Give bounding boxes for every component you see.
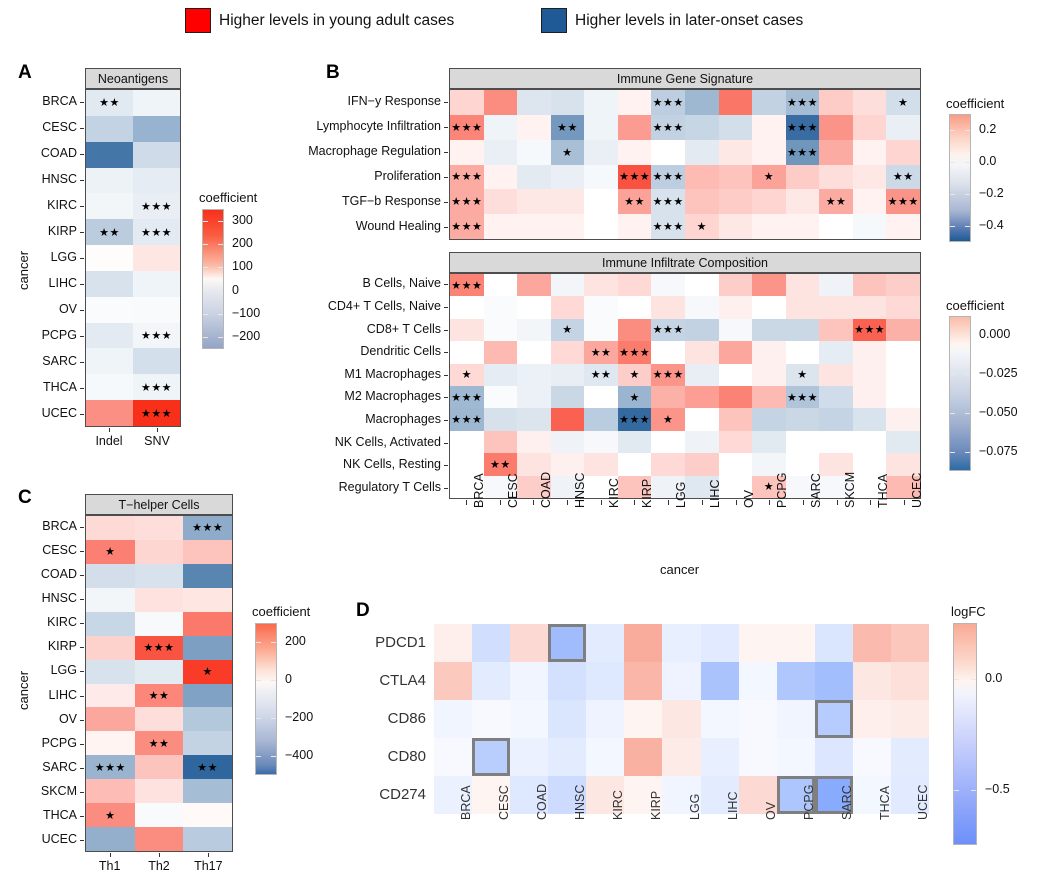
panel-d-cell[interactable] bbox=[548, 662, 586, 700]
panel-b-bottom-cell[interactable]: ★ bbox=[651, 408, 685, 430]
panel-b-top-cell[interactable] bbox=[584, 165, 618, 190]
panel-b-top-cell[interactable] bbox=[584, 90, 618, 115]
panel-b-bottom-cell[interactable] bbox=[618, 296, 652, 318]
panel-b-top-cell[interactable]: ★★★ bbox=[651, 165, 685, 190]
panel-b-top-cell[interactable] bbox=[685, 189, 719, 214]
panel-d-cell[interactable] bbox=[434, 738, 472, 776]
panel-c-cell[interactable] bbox=[86, 612, 135, 636]
panel-b-bottom-cell[interactable] bbox=[450, 319, 484, 341]
panel-b-top-cell[interactable]: ★★★ bbox=[651, 189, 685, 214]
panel-b-top-cell[interactable] bbox=[584, 214, 618, 239]
panel-b-bottom-cell[interactable]: ★ bbox=[618, 364, 652, 386]
panel-b-top-cell[interactable] bbox=[551, 214, 585, 239]
panel-b-bottom-cell[interactable] bbox=[618, 453, 652, 475]
panel-d-cell[interactable] bbox=[472, 738, 510, 776]
panel-b-bottom-cell[interactable] bbox=[551, 296, 585, 318]
panel-b-bottom-cell[interactable] bbox=[685, 274, 719, 296]
panel-d-cell[interactable] bbox=[891, 624, 929, 662]
panel-b-bottom-cell[interactable] bbox=[752, 274, 786, 296]
panel-d-cell[interactable] bbox=[434, 700, 472, 738]
panel-b-top-cell[interactable] bbox=[719, 214, 753, 239]
panel-b-bottom-cell[interactable] bbox=[551, 408, 585, 430]
panel-c-cell[interactable] bbox=[86, 779, 135, 803]
panel-b-top-cell[interactable] bbox=[584, 115, 618, 140]
panel-c-cell[interactable] bbox=[183, 827, 232, 851]
panel-b-bottom-cell[interactable] bbox=[584, 386, 618, 408]
panel-b-bottom-cell[interactable]: ★ bbox=[786, 364, 820, 386]
panel-d-cell[interactable] bbox=[853, 624, 891, 662]
panel-b-bottom-cell[interactable] bbox=[819, 364, 853, 386]
panel-b-bottom-cell[interactable] bbox=[886, 341, 920, 363]
panel-c-cell[interactable] bbox=[183, 540, 232, 564]
panel-a-cell[interactable] bbox=[86, 142, 133, 168]
panel-b-top-cell[interactable] bbox=[517, 165, 551, 190]
panel-a-cell[interactable] bbox=[133, 297, 180, 323]
panel-b-top-cell[interactable] bbox=[484, 90, 518, 115]
panel-b-bottom-cell[interactable] bbox=[719, 431, 753, 453]
panel-b-bottom-cell[interactable]: ★ bbox=[450, 364, 484, 386]
panel-b-top-cell[interactable]: ★★★ bbox=[886, 189, 920, 214]
panel-c-cell[interactable]: ★★★ bbox=[86, 755, 135, 779]
panel-b-top-cell[interactable] bbox=[786, 214, 820, 239]
panel-b-top-cell[interactable] bbox=[786, 165, 820, 190]
panel-b-bottom-cell[interactable] bbox=[786, 296, 820, 318]
panel-b-bottom-cell[interactable] bbox=[752, 408, 786, 430]
panel-b-bottom-cell[interactable] bbox=[651, 453, 685, 475]
panel-b-bottom-cell[interactable] bbox=[719, 274, 753, 296]
panel-b-bottom-cell[interactable] bbox=[786, 453, 820, 475]
panel-d-cell[interactable] bbox=[548, 624, 586, 662]
panel-a-cell[interactable] bbox=[86, 374, 133, 400]
panel-b-top-cell[interactable] bbox=[752, 140, 786, 165]
panel-c-cell[interactable] bbox=[135, 588, 184, 612]
panel-b-bottom-cell[interactable] bbox=[450, 431, 484, 453]
panel-b-top-cell[interactable]: ★ bbox=[752, 165, 786, 190]
panel-a-cell[interactable]: ★★ bbox=[86, 90, 133, 116]
panel-b-bottom-cell[interactable] bbox=[517, 364, 551, 386]
panel-b-top-cell[interactable]: ★★★ bbox=[651, 214, 685, 239]
panel-b-top-cell[interactable] bbox=[484, 189, 518, 214]
panel-b-bottom-cell[interactable]: ★★★ bbox=[651, 319, 685, 341]
panel-b-bottom-cell[interactable] bbox=[450, 341, 484, 363]
panel-c-cell[interactable] bbox=[183, 707, 232, 731]
panel-b-top-cell[interactable]: ★★ bbox=[819, 189, 853, 214]
panel-d-cell[interactable] bbox=[853, 662, 891, 700]
panel-b-bottom-cell[interactable]: ★★★ bbox=[450, 386, 484, 408]
panel-d-cell[interactable] bbox=[624, 738, 662, 776]
panel-d-cell[interactable] bbox=[510, 662, 548, 700]
panel-d-cell[interactable] bbox=[815, 624, 853, 662]
panel-b-bottom-cell[interactable] bbox=[819, 431, 853, 453]
panel-b-top-cell[interactable] bbox=[819, 115, 853, 140]
panel-d-cell[interactable] bbox=[662, 738, 700, 776]
panel-b-bottom-cell[interactable] bbox=[685, 296, 719, 318]
panel-b-top-cell[interactable] bbox=[517, 140, 551, 165]
panel-b-top-cell[interactable] bbox=[517, 214, 551, 239]
panel-b-bottom-cell[interactable] bbox=[853, 386, 887, 408]
panel-b-top-cell[interactable]: ★★ bbox=[551, 115, 585, 140]
panel-b-top-cell[interactable] bbox=[786, 189, 820, 214]
panel-c-cell[interactable] bbox=[183, 612, 232, 636]
panel-a-cell[interactable]: ★★★ bbox=[133, 193, 180, 219]
panel-c-cell[interactable] bbox=[135, 516, 184, 540]
panel-b-bottom-cell[interactable] bbox=[651, 431, 685, 453]
panel-d-cell[interactable] bbox=[472, 624, 510, 662]
panel-d-cell[interactable] bbox=[662, 624, 700, 662]
panel-c-cell[interactable] bbox=[183, 779, 232, 803]
panel-b-top-cell[interactable] bbox=[719, 189, 753, 214]
panel-a-cell[interactable]: ★★★ bbox=[133, 400, 180, 426]
panel-d-cell[interactable] bbox=[586, 624, 624, 662]
panel-b-bottom-cell[interactable] bbox=[484, 341, 518, 363]
panel-b-bottom-cell[interactable] bbox=[719, 296, 753, 318]
panel-b-top-cell[interactable]: ★★★ bbox=[618, 165, 652, 190]
panel-d-cell[interactable] bbox=[701, 738, 739, 776]
panel-b-bottom-cell[interactable] bbox=[517, 386, 551, 408]
panel-b-top-cell[interactable]: ★★★ bbox=[450, 165, 484, 190]
panel-a-cell[interactable] bbox=[86, 323, 133, 349]
panel-b-bottom-cell[interactable] bbox=[853, 453, 887, 475]
panel-c-cell[interactable] bbox=[135, 564, 184, 588]
panel-a-cell[interactable]: ★★ bbox=[86, 219, 133, 245]
panel-b-bottom-cell[interactable] bbox=[484, 408, 518, 430]
panel-b-bottom-cell[interactable] bbox=[651, 386, 685, 408]
panel-a-cell[interactable] bbox=[86, 245, 133, 271]
panel-b-bottom-cell[interactable]: ★ bbox=[618, 386, 652, 408]
panel-b-bottom-cell[interactable] bbox=[517, 341, 551, 363]
panel-d-cell[interactable] bbox=[777, 662, 815, 700]
panel-b-bottom-cell[interactable] bbox=[551, 431, 585, 453]
panel-b-bottom-cell[interactable] bbox=[886, 296, 920, 318]
panel-b-bottom-cell[interactable] bbox=[886, 319, 920, 341]
panel-c-cell[interactable] bbox=[86, 636, 135, 660]
panel-d-cell[interactable] bbox=[548, 700, 586, 738]
panel-d-cell[interactable] bbox=[815, 738, 853, 776]
panel-b-bottom-cell[interactable] bbox=[786, 319, 820, 341]
panel-a-cell[interactable] bbox=[133, 116, 180, 142]
panel-c-cell[interactable] bbox=[183, 588, 232, 612]
panel-b-bottom-cell[interactable]: ★★★ bbox=[450, 408, 484, 430]
panel-b-bottom-cell[interactable]: ★★★ bbox=[618, 341, 652, 363]
panel-b-bottom-cell[interactable] bbox=[719, 364, 753, 386]
panel-d-cell[interactable] bbox=[777, 624, 815, 662]
panel-b-top-cell[interactable] bbox=[517, 90, 551, 115]
panel-b-bottom-cell[interactable] bbox=[584, 453, 618, 475]
panel-b-top-cell[interactable] bbox=[618, 140, 652, 165]
panel-d-cell[interactable] bbox=[624, 624, 662, 662]
panel-b-top-cell[interactable] bbox=[853, 140, 887, 165]
panel-b-bottom-cell[interactable] bbox=[719, 453, 753, 475]
panel-b-bottom-cell[interactable] bbox=[685, 386, 719, 408]
panel-c-cell[interactable] bbox=[135, 803, 184, 827]
panel-b-bottom-cell[interactable] bbox=[853, 341, 887, 363]
panel-b-bottom-cell[interactable] bbox=[819, 274, 853, 296]
panel-b-top-cell[interactable] bbox=[719, 115, 753, 140]
panel-a-cell[interactable] bbox=[86, 271, 133, 297]
panel-b-bottom-cell[interactable] bbox=[651, 296, 685, 318]
panel-b-top-cell[interactable]: ★★★ bbox=[786, 140, 820, 165]
panel-b-bottom-cell[interactable] bbox=[517, 408, 551, 430]
panel-b-top-cell[interactable] bbox=[685, 115, 719, 140]
panel-b-bottom-cell[interactable] bbox=[685, 319, 719, 341]
panel-b-top-cell[interactable] bbox=[752, 189, 786, 214]
panel-c-cell[interactable]: ★★★ bbox=[183, 516, 232, 540]
panel-b-top-cell[interactable] bbox=[886, 214, 920, 239]
panel-b-bottom-cell[interactable] bbox=[853, 296, 887, 318]
panel-b-top-cell[interactable] bbox=[484, 140, 518, 165]
panel-b-top-cell[interactable] bbox=[517, 189, 551, 214]
panel-c-heatmap[interactable]: ★★★★★★★★★★★★★★★★★★ bbox=[85, 515, 233, 852]
panel-d-cell[interactable] bbox=[586, 662, 624, 700]
panel-d-cell[interactable] bbox=[815, 700, 853, 738]
panel-b-top-cell[interactable] bbox=[618, 115, 652, 140]
panel-b-bottom-cell[interactable]: ★★★ bbox=[786, 386, 820, 408]
panel-b-top-cell[interactable]: ★★ bbox=[886, 165, 920, 190]
panel-d-cell[interactable] bbox=[853, 738, 891, 776]
panel-b-top-cell[interactable] bbox=[484, 115, 518, 140]
panel-c-cell[interactable] bbox=[135, 612, 184, 636]
panel-b-bottom-cell[interactable] bbox=[517, 274, 551, 296]
panel-b-bottom-cell[interactable] bbox=[886, 386, 920, 408]
panel-b-bottom-cell[interactable]: ★★ bbox=[584, 364, 618, 386]
panel-b-top-cell[interactable] bbox=[450, 90, 484, 115]
panel-b-bottom-cell[interactable] bbox=[752, 431, 786, 453]
panel-b-bottom-cell[interactable] bbox=[651, 341, 685, 363]
panel-b-bottom-cell[interactable] bbox=[618, 319, 652, 341]
panel-b-bottom-cell[interactable] bbox=[853, 408, 887, 430]
panel-a-cell[interactable]: ★★★ bbox=[133, 323, 180, 349]
panel-b-top-cell[interactable] bbox=[853, 90, 887, 115]
panel-c-cell[interactable]: ★ bbox=[86, 803, 135, 827]
panel-b-bottom-cell[interactable] bbox=[853, 431, 887, 453]
panel-b-top-cell[interactable] bbox=[584, 140, 618, 165]
panel-d-cell[interactable] bbox=[853, 700, 891, 738]
panel-d-cell[interactable] bbox=[510, 738, 548, 776]
panel-a-cell[interactable] bbox=[86, 348, 133, 374]
panel-a-cell[interactable] bbox=[133, 142, 180, 168]
panel-c-cell[interactable] bbox=[183, 564, 232, 588]
panel-b-bottom-cell[interactable] bbox=[685, 341, 719, 363]
panel-b-top-cell[interactable] bbox=[651, 140, 685, 165]
panel-b-bottom-cell[interactable] bbox=[685, 453, 719, 475]
panel-b-bottom-cell[interactable] bbox=[618, 274, 652, 296]
panel-b-top-cell[interactable] bbox=[685, 90, 719, 115]
panel-a-cell[interactable] bbox=[133, 245, 180, 271]
panel-b-bottom-cell[interactable] bbox=[719, 386, 753, 408]
panel-c-cell[interactable] bbox=[135, 827, 184, 851]
panel-b-top-cell[interactable] bbox=[618, 214, 652, 239]
panel-b-bottom-cell[interactable] bbox=[886, 364, 920, 386]
panel-b-bottom-cell[interactable] bbox=[886, 431, 920, 453]
panel-b-bottom-cell[interactable] bbox=[517, 431, 551, 453]
panel-b-top-cell[interactable] bbox=[752, 90, 786, 115]
panel-b-bottom-cell[interactable] bbox=[752, 341, 786, 363]
panel-b-bottom-cell[interactable] bbox=[719, 319, 753, 341]
panel-b-bottom-cell[interactable] bbox=[484, 274, 518, 296]
panel-a-cell[interactable] bbox=[86, 168, 133, 194]
panel-b-top-cell[interactable]: ★★★ bbox=[450, 189, 484, 214]
panel-c-cell[interactable]: ★★ bbox=[135, 684, 184, 708]
panel-b-bottom-cell[interactable] bbox=[517, 319, 551, 341]
panel-d-cell[interactable] bbox=[586, 700, 624, 738]
panel-b-top-cell[interactable] bbox=[886, 115, 920, 140]
panel-d-cell[interactable] bbox=[739, 700, 777, 738]
panel-b-bottom-cell[interactable] bbox=[584, 319, 618, 341]
panel-b-top-cell[interactable] bbox=[853, 189, 887, 214]
panel-b-bottom-cell[interactable] bbox=[752, 364, 786, 386]
panel-a-cell[interactable] bbox=[133, 168, 180, 194]
panel-b-bottom-cell[interactable] bbox=[853, 274, 887, 296]
panel-b-bottom-cell[interactable] bbox=[752, 296, 786, 318]
panel-b-top-cell[interactable] bbox=[618, 90, 652, 115]
panel-a-cell[interactable]: ★★★ bbox=[133, 374, 180, 400]
panel-b-top-cell[interactable] bbox=[752, 214, 786, 239]
panel-d-cell[interactable] bbox=[548, 738, 586, 776]
panel-b-top-cell[interactable] bbox=[819, 165, 853, 190]
panel-b-top-cell[interactable] bbox=[853, 165, 887, 190]
panel-d-cell[interactable] bbox=[739, 662, 777, 700]
panel-c-cell[interactable] bbox=[86, 588, 135, 612]
panel-a-cell[interactable] bbox=[133, 271, 180, 297]
panel-b-bottom-cell[interactable] bbox=[786, 341, 820, 363]
panel-b-top-cell[interactable]: ★ bbox=[551, 140, 585, 165]
panel-c-cell[interactable] bbox=[183, 636, 232, 660]
panel-b-bottom-cell[interactable] bbox=[484, 296, 518, 318]
panel-b-bottom-cell[interactable] bbox=[853, 364, 887, 386]
panel-b-bottom-cell[interactable] bbox=[551, 386, 585, 408]
panel-b-top-cell[interactable]: ★★ bbox=[618, 189, 652, 214]
panel-c-cell[interactable] bbox=[86, 516, 135, 540]
panel-b-top-cell[interactable] bbox=[584, 189, 618, 214]
panel-d-cell[interactable] bbox=[777, 738, 815, 776]
panel-d-cell[interactable] bbox=[472, 662, 510, 700]
panel-a-cell[interactable]: ★★★ bbox=[133, 219, 180, 245]
panel-d-cell[interactable] bbox=[891, 738, 929, 776]
panel-b-top-cell[interactable] bbox=[719, 140, 753, 165]
panel-b-top-cell[interactable] bbox=[719, 165, 753, 190]
panel-c-cell[interactable] bbox=[86, 660, 135, 684]
panel-b-top-cell[interactable] bbox=[685, 165, 719, 190]
panel-b-top-cell[interactable]: ★ bbox=[886, 90, 920, 115]
panel-d-cell[interactable] bbox=[624, 700, 662, 738]
panel-b-bottom-cell[interactable]: ★★★ bbox=[853, 319, 887, 341]
panel-a-cell[interactable] bbox=[133, 348, 180, 374]
panel-c-cell[interactable] bbox=[86, 684, 135, 708]
panel-a-cell[interactable] bbox=[86, 193, 133, 219]
panel-b-bottom-cell[interactable] bbox=[886, 274, 920, 296]
panel-b-bottom-cell[interactable] bbox=[819, 319, 853, 341]
panel-b-top-cell[interactable] bbox=[819, 90, 853, 115]
panel-a-cell[interactable] bbox=[86, 297, 133, 323]
panel-d-cell[interactable] bbox=[891, 700, 929, 738]
panel-b-bottom-cell[interactable] bbox=[484, 386, 518, 408]
panel-b-bottom-cell[interactable] bbox=[886, 408, 920, 430]
panel-d-cell[interactable] bbox=[815, 662, 853, 700]
panel-b-bottom-cell[interactable] bbox=[450, 296, 484, 318]
panel-b-top-cell[interactable] bbox=[886, 140, 920, 165]
panel-b-top-cell[interactable] bbox=[853, 115, 887, 140]
panel-b-top-cell[interactable]: ★★★ bbox=[651, 115, 685, 140]
panel-b-bottom-cell[interactable] bbox=[786, 431, 820, 453]
panel-b-bottom-cell[interactable] bbox=[786, 408, 820, 430]
panel-b-top-cell[interactable] bbox=[484, 214, 518, 239]
panel-c-cell[interactable] bbox=[183, 803, 232, 827]
panel-b-top-cell[interactable] bbox=[517, 115, 551, 140]
panel-b-top-cell[interactable] bbox=[819, 140, 853, 165]
panel-c-cell[interactable] bbox=[183, 684, 232, 708]
panel-b-top-cell[interactable]: ★★★ bbox=[786, 90, 820, 115]
panel-b-bottom-cell[interactable] bbox=[584, 274, 618, 296]
panel-b-top-cell[interactable] bbox=[484, 165, 518, 190]
panel-d-cell[interactable] bbox=[701, 624, 739, 662]
panel-b-top-cell[interactable] bbox=[551, 90, 585, 115]
panel-c-cell[interactable] bbox=[86, 707, 135, 731]
panel-a-cell[interactable] bbox=[86, 116, 133, 142]
panel-c-cell[interactable] bbox=[135, 707, 184, 731]
panel-b-bottom-cell[interactable] bbox=[551, 364, 585, 386]
panel-b-top-cell[interactable] bbox=[853, 214, 887, 239]
panel-a-heatmap[interactable]: ★★★★★★★★★★★★★★★★★★★ bbox=[85, 89, 181, 427]
panel-b-bottom-cell[interactable] bbox=[584, 408, 618, 430]
panel-d-cell[interactable] bbox=[701, 700, 739, 738]
panel-d-cell[interactable] bbox=[662, 700, 700, 738]
panel-b-bottom-cell[interactable] bbox=[618, 431, 652, 453]
panel-d-cell[interactable] bbox=[434, 662, 472, 700]
panel-c-cell[interactable]: ★★ bbox=[135, 731, 184, 755]
panel-b-top-cell[interactable] bbox=[819, 214, 853, 239]
panel-d-cell[interactable] bbox=[739, 738, 777, 776]
panel-b-bottom-cell[interactable] bbox=[685, 364, 719, 386]
panel-d-cell[interactable] bbox=[891, 662, 929, 700]
panel-c-cell[interactable]: ★ bbox=[86, 540, 135, 564]
panel-b-top-cell[interactable]: ★★★ bbox=[651, 90, 685, 115]
panel-c-cell[interactable]: ★★★ bbox=[135, 636, 184, 660]
panel-b-bottom-cell[interactable] bbox=[651, 274, 685, 296]
panel-d-cell[interactable] bbox=[739, 624, 777, 662]
panel-c-cell[interactable] bbox=[135, 755, 184, 779]
panel-b-top-heatmap[interactable]: ★★★★★★★★★★★★★★★★★★★★★★★★★★★★★★★★★★★★★★★★… bbox=[449, 89, 921, 240]
panel-c-cell[interactable] bbox=[86, 564, 135, 588]
panel-b-bottom-cell[interactable]: ★★ bbox=[484, 453, 518, 475]
panel-c-cell[interactable] bbox=[135, 660, 184, 684]
panel-b-top-cell[interactable] bbox=[719, 90, 753, 115]
panel-b-bottom-cell[interactable] bbox=[819, 296, 853, 318]
panel-b-bottom-cell[interactable] bbox=[786, 274, 820, 296]
panel-b-bottom-cell[interactable]: ★★ bbox=[584, 341, 618, 363]
panel-b-bottom-cell[interactable] bbox=[719, 408, 753, 430]
panel-d-cell[interactable] bbox=[586, 738, 624, 776]
panel-c-cell[interactable] bbox=[183, 731, 232, 755]
panel-b-bottom-cell[interactable]: ★ bbox=[551, 319, 585, 341]
panel-d-cell[interactable] bbox=[510, 624, 548, 662]
panel-d-cell[interactable] bbox=[662, 662, 700, 700]
panel-b-bottom-cell[interactable] bbox=[685, 408, 719, 430]
panel-b-bottom-cell[interactable] bbox=[484, 431, 518, 453]
panel-c-cell[interactable] bbox=[135, 540, 184, 564]
panel-b-top-cell[interactable]: ★★★ bbox=[450, 115, 484, 140]
panel-b-bottom-heatmap[interactable]: ★★★★★★★★★★★★★★★★★★★★★★★★★★★★★★★★★★★★★★★★ bbox=[449, 273, 921, 499]
panel-b-bottom-cell[interactable] bbox=[584, 296, 618, 318]
panel-a-cell[interactable] bbox=[133, 90, 180, 116]
panel-b-bottom-cell[interactable] bbox=[517, 296, 551, 318]
panel-b-top-cell[interactable] bbox=[551, 165, 585, 190]
panel-b-bottom-cell[interactable] bbox=[719, 341, 753, 363]
panel-b-top-cell[interactable] bbox=[685, 140, 719, 165]
panel-b-top-cell[interactable] bbox=[450, 140, 484, 165]
panel-b-bottom-cell[interactable] bbox=[752, 319, 786, 341]
panel-d-cell[interactable] bbox=[434, 624, 472, 662]
panel-b-bottom-cell[interactable]: ★★★ bbox=[450, 274, 484, 296]
